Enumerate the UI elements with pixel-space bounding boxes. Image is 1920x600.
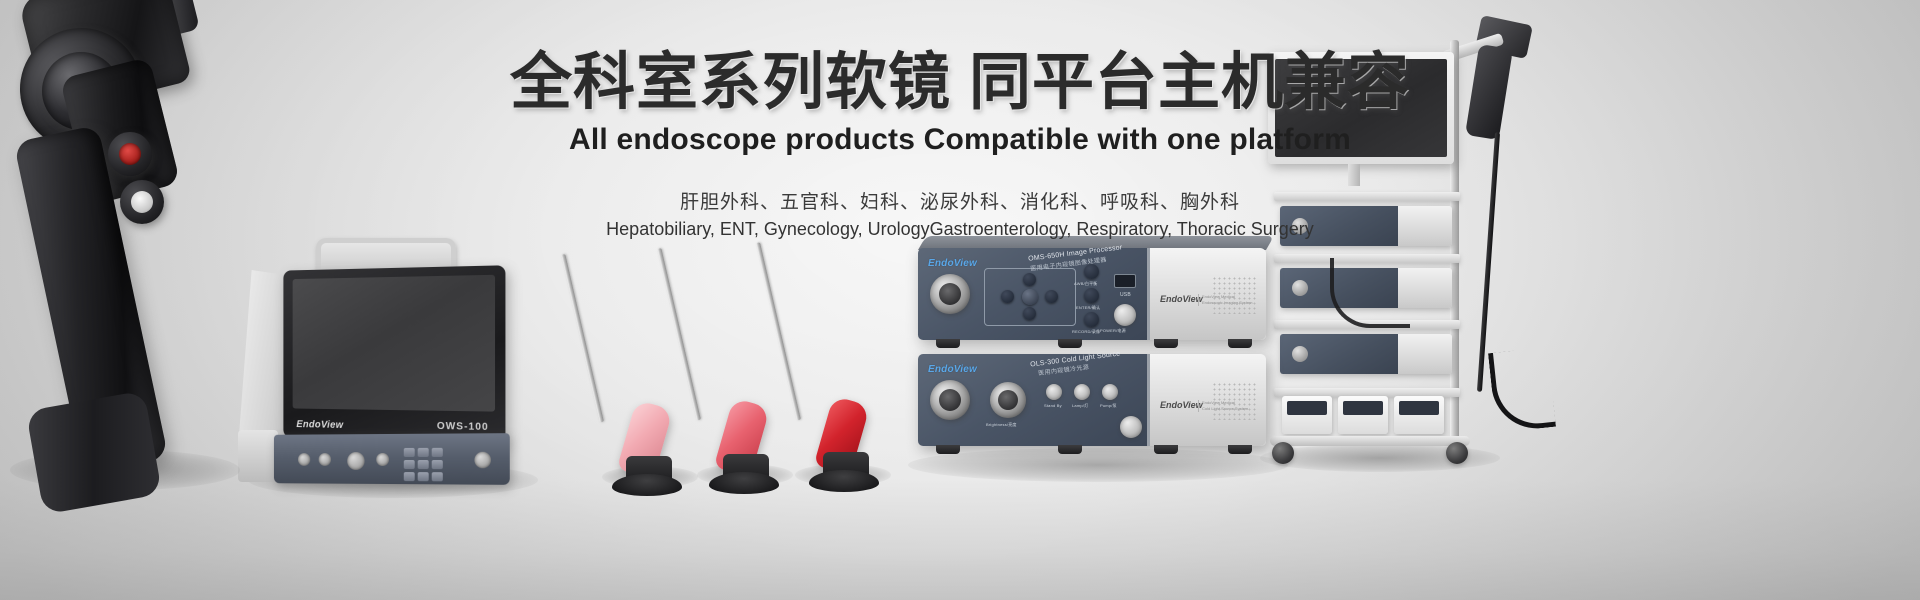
button-lamp bbox=[1074, 384, 1090, 400]
button-record-caption: RECORD/录像 bbox=[1072, 329, 1100, 335]
workstation-key-7 bbox=[404, 472, 415, 481]
light-source-brightness-dial bbox=[990, 382, 1026, 418]
image-processor-side-panel: EndoView EndoView Medical Endoscopic Ima… bbox=[1150, 248, 1266, 340]
workstation-key-8 bbox=[418, 472, 429, 481]
rigid-scope-pink-base bbox=[612, 474, 682, 496]
rigid-scope-rose-base bbox=[709, 472, 779, 494]
light-source-front-panel: EndoView Brightness/亮度 Stand By Lamp/灯 P… bbox=[918, 354, 1150, 446]
workstation-key-1 bbox=[404, 448, 415, 457]
workstation-display-screen bbox=[293, 275, 495, 412]
power-button bbox=[1114, 304, 1136, 326]
image-processor-side-brand: EndoView bbox=[1160, 294, 1203, 304]
image-processor-vents bbox=[1212, 276, 1256, 314]
button-pump bbox=[1102, 384, 1118, 400]
workstation-key-9 bbox=[432, 472, 443, 481]
workstation-key-4 bbox=[404, 460, 415, 469]
button-standby bbox=[1046, 384, 1062, 400]
image-processor-brand: EndoView bbox=[928, 258, 977, 269]
button-enter bbox=[1084, 288, 1099, 303]
light-source-foot-3 bbox=[1154, 445, 1178, 454]
workstation-port-2 bbox=[319, 453, 331, 466]
endoscope-connector-tail bbox=[26, 390, 162, 514]
usb-label: USB bbox=[1120, 292, 1131, 298]
headline-part-1: 全科室系列软镜 bbox=[510, 48, 951, 117]
workstation-knob bbox=[347, 452, 364, 470]
rigid-scope-red bbox=[793, 238, 913, 500]
image-processor-scope-port bbox=[930, 274, 970, 314]
nav-right-button bbox=[1045, 290, 1058, 303]
rigid-scope-pink-shaft bbox=[561, 254, 604, 422]
workstation-key-5 bbox=[418, 460, 429, 469]
cart-accessory-3 bbox=[1394, 396, 1444, 434]
light-source-dial-caption: Brightness/亮度 bbox=[986, 422, 1017, 428]
image-processor-keypad-panel bbox=[984, 268, 1076, 326]
image-processor-foot-4 bbox=[1228, 339, 1252, 348]
workstation-key-6 bbox=[432, 460, 443, 469]
workstation-key-2 bbox=[418, 448, 429, 457]
banner-text-block: 全科室系列软镜同平台主机兼容 All endoscope products Co… bbox=[0, 48, 1920, 240]
cart-device-2-dial bbox=[1292, 280, 1308, 296]
light-source-foot-4 bbox=[1228, 445, 1252, 454]
light-source-output-port bbox=[930, 380, 970, 420]
button-lamp-caption: Lamp/灯 bbox=[1072, 403, 1088, 409]
power-label: POWER/电源 bbox=[1100, 328, 1126, 334]
workstation-model-label: OWS-100 bbox=[437, 421, 489, 433]
button-record bbox=[1084, 312, 1099, 327]
workstation-port-3 bbox=[376, 453, 389, 466]
light-source-ols-300: EndoView Brightness/亮度 Stand By Lamp/灯 P… bbox=[918, 354, 1266, 446]
nav-down-button bbox=[1023, 307, 1036, 320]
image-processor-foot-1 bbox=[936, 339, 960, 348]
button-standby-caption: Stand By bbox=[1044, 403, 1062, 408]
nav-menu-button bbox=[1022, 289, 1038, 305]
cart-accessory-1 bbox=[1282, 396, 1332, 434]
image-processor-foot-3 bbox=[1154, 339, 1178, 348]
light-source-brand: EndoView bbox=[928, 364, 977, 375]
cart-accessory-2 bbox=[1338, 396, 1388, 434]
departments-chinese: 肝胆外科、五官科、妇科、泌尿外科、消化科、呼吸科、胸外科 bbox=[0, 187, 1920, 214]
image-processor-front-panel: EndoView AWB/白平衡 ENTER/确认 RECORD/录像 USB bbox=[918, 248, 1150, 340]
light-source-power-button bbox=[1120, 416, 1142, 438]
headline-part-2: 同平台主机兼容 bbox=[969, 48, 1410, 117]
cart-accessory-2-screen bbox=[1343, 401, 1383, 415]
usb-port bbox=[1114, 274, 1136, 288]
cart-caster-right bbox=[1446, 442, 1468, 464]
nav-up-button bbox=[1023, 273, 1036, 286]
light-source-foot-1 bbox=[936, 445, 960, 454]
button-pump-caption: Pump/泵 bbox=[1100, 403, 1117, 409]
button-white-balance-caption: AWB/白平衡 bbox=[1074, 281, 1097, 287]
workstation-key-3 bbox=[432, 448, 443, 457]
light-source-vents bbox=[1212, 382, 1256, 420]
product-banner: 全科室系列软镜同平台主机兼容 All endoscope products Co… bbox=[0, 0, 1920, 600]
cart-cable bbox=[1330, 258, 1410, 328]
cart-device-3 bbox=[1280, 334, 1452, 374]
light-source-side-brand: EndoView bbox=[1160, 400, 1203, 410]
image-processor-oms-650h: EndoView AWB/白平衡 ENTER/确认 RECORD/录像 USB bbox=[918, 248, 1266, 340]
nav-left-button bbox=[1001, 290, 1014, 303]
cart-base-rail bbox=[1270, 436, 1470, 446]
button-white-balance bbox=[1084, 264, 1099, 279]
workstation-power-button bbox=[474, 452, 491, 468]
rigid-scope-red-base bbox=[809, 470, 879, 492]
cart-accessory-1-screen bbox=[1287, 401, 1327, 415]
light-source-foot-2 bbox=[1058, 445, 1082, 454]
cart-device-3-dial bbox=[1292, 346, 1308, 362]
light-source-side-panel: EndoView EndoView Medical Cold Light Sou… bbox=[1150, 354, 1266, 446]
processor-stack: EndoView AWB/白平衡 ENTER/确认 RECORD/录像 USB bbox=[918, 248, 1278, 473]
cart-accessory-3-screen bbox=[1399, 401, 1439, 415]
cart-device-3-side bbox=[1398, 334, 1452, 374]
button-enter-caption: ENTER/确认 bbox=[1076, 305, 1100, 311]
departments-english: Hepatobiliary, ENT, Gynecology, UrologyG… bbox=[0, 219, 1920, 240]
page-title: 全科室系列软镜同平台主机兼容 bbox=[0, 48, 1920, 117]
cart-device-3-face bbox=[1280, 334, 1398, 374]
page-subtitle: All endoscope products Compatible with o… bbox=[0, 123, 1920, 157]
image-processor-foot-2 bbox=[1058, 339, 1082, 348]
